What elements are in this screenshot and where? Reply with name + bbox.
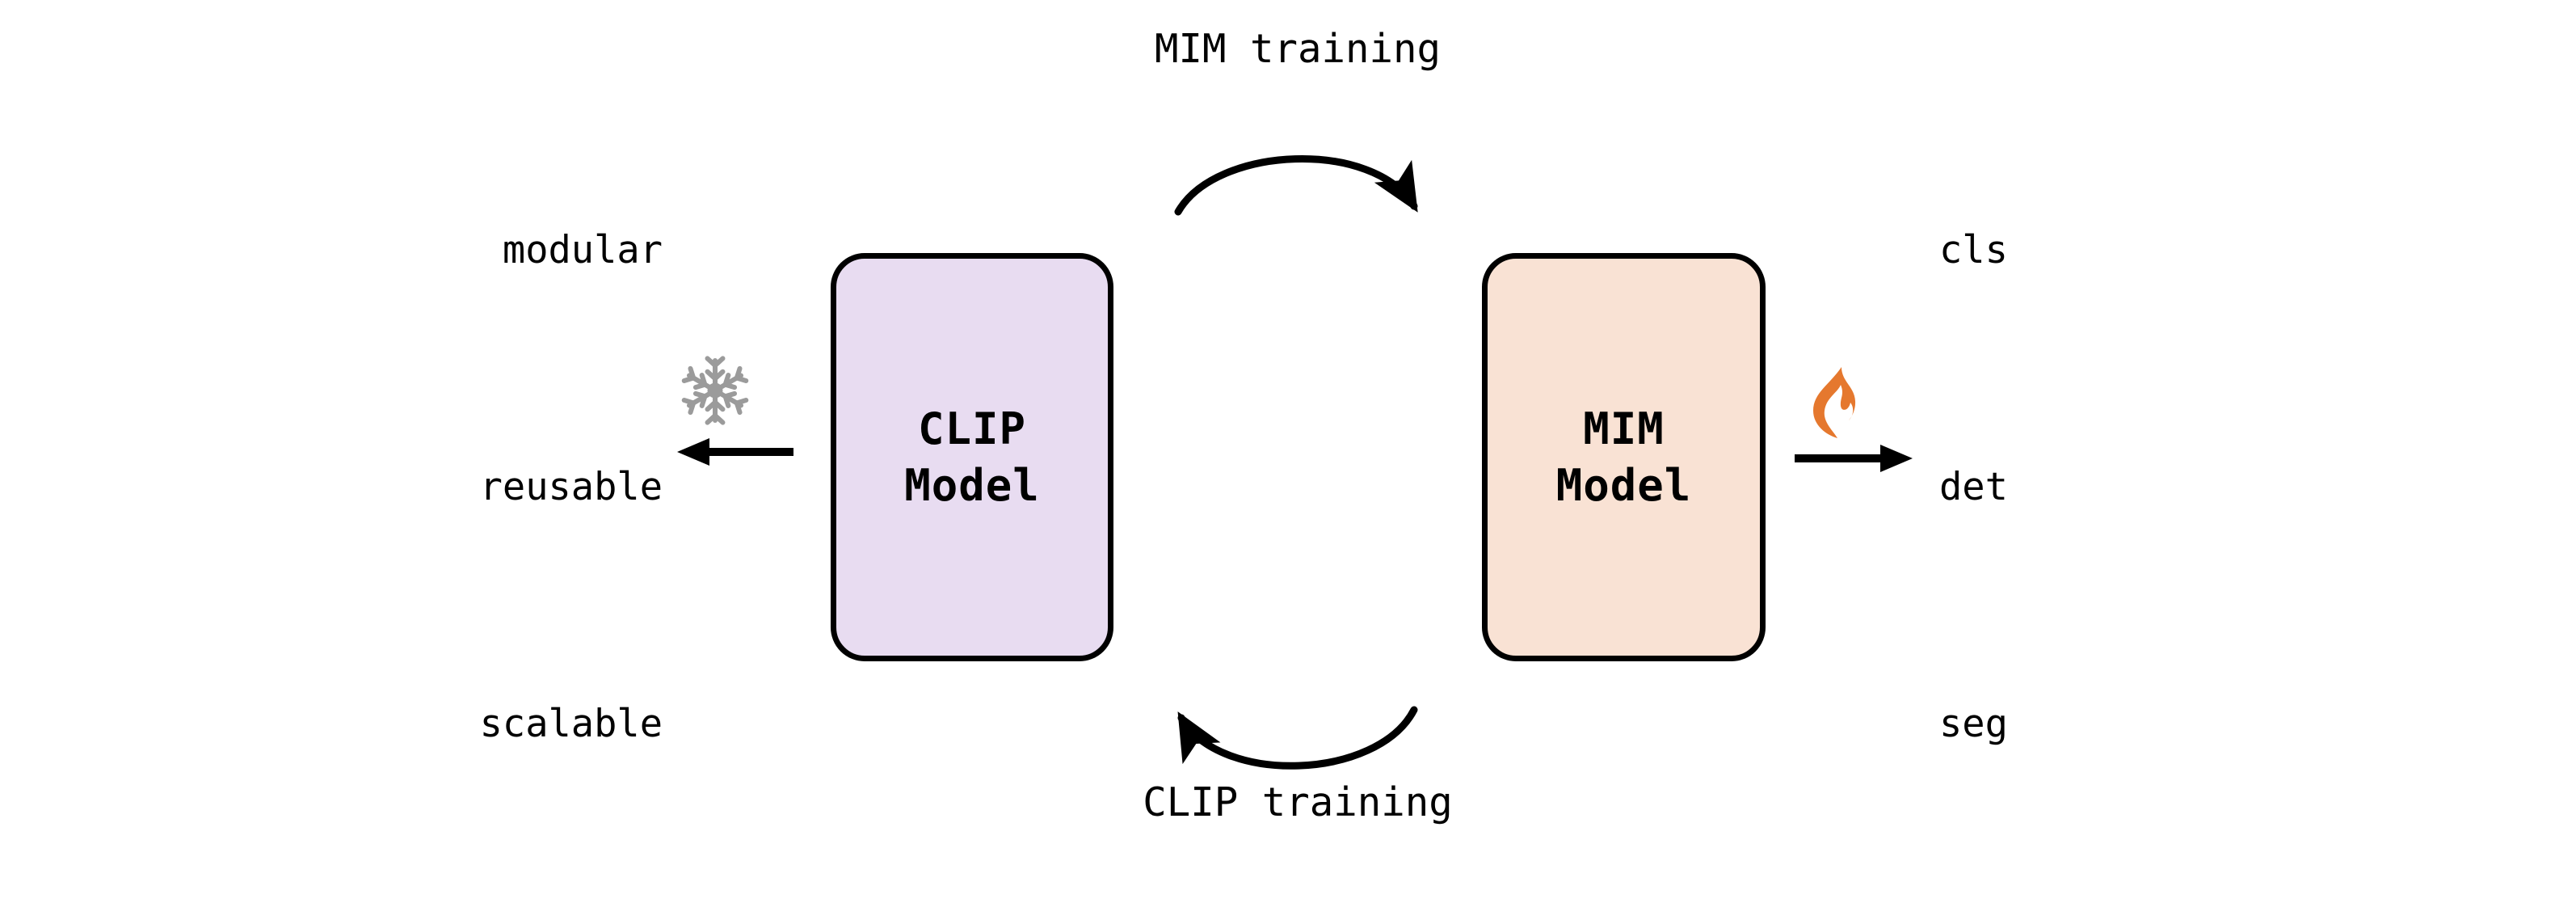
attribute-scalable: scalable (339, 695, 663, 752)
diagram-canvas: MIM training CLIP Model MIM Model modula… (0, 0, 2576, 920)
task-spacer-1 (1939, 354, 2182, 382)
clip-attributes-list: modular reusable scalable (339, 146, 663, 828)
mim-training-arc (1131, 121, 1471, 251)
clip-training-label: CLIP training (1096, 779, 1500, 825)
task-cls: cls (1939, 222, 2182, 278)
mim-model-line-2: Model (1556, 458, 1692, 513)
fire-icon (1808, 365, 1867, 440)
task-det: det (1939, 458, 2182, 515)
mim-model-line-1: MIM (1583, 401, 1665, 457)
mim-training-label: MIM training (1096, 26, 1500, 72)
clip-model-box[interactable]: CLIP Model (831, 253, 1113, 661)
snowflake-icon (680, 356, 750, 425)
clip-model-line-2: Model (904, 458, 1040, 513)
mim-output-arrow (1790, 437, 1919, 480)
task-spacer-2 (1939, 591, 2182, 619)
mim-tasks-list: cls det seg (1939, 146, 2182, 828)
clip-output-arrow (671, 430, 800, 474)
attr-spacer-2 (339, 591, 663, 619)
task-seg: seg (1939, 695, 2182, 752)
attribute-modular: modular (339, 222, 663, 278)
attribute-reusable: reusable (339, 458, 663, 515)
mim-model-box[interactable]: MIM Model (1482, 253, 1766, 661)
clip-model-line-1: CLIP (918, 401, 1026, 457)
attr-spacer-1 (339, 354, 663, 382)
